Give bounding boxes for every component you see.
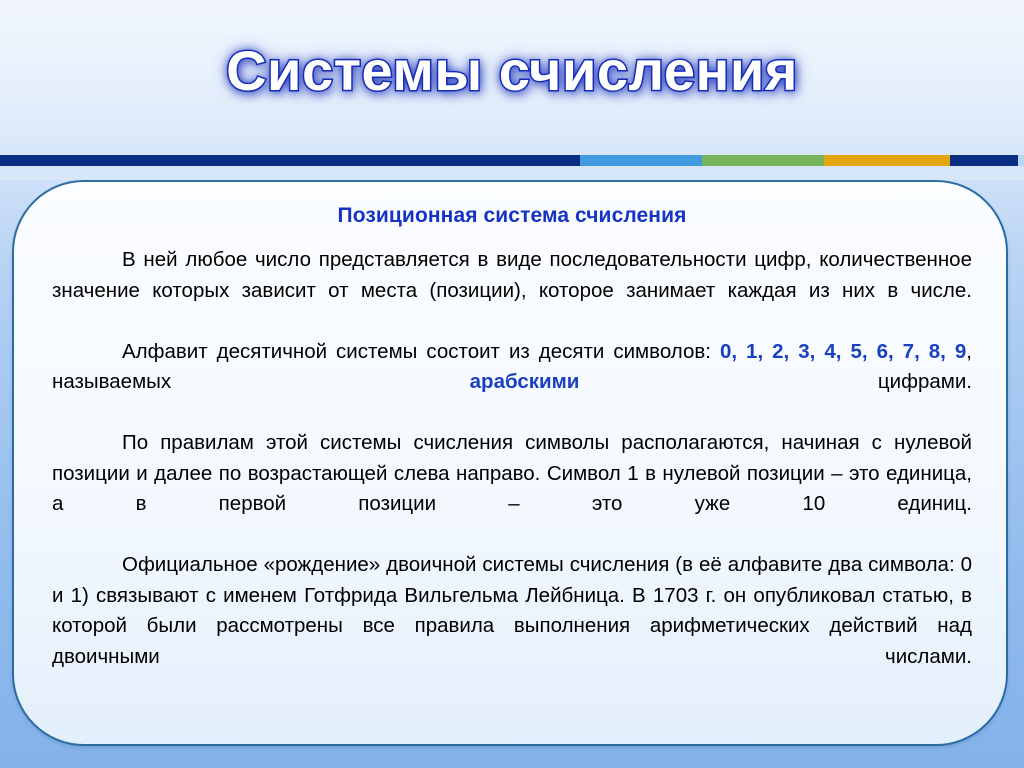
bar-segment-tail: [1018, 155, 1024, 166]
paragraph-3: По правилам этой системы счисления симво…: [52, 428, 972, 550]
section-heading: Позиционная система счисления: [52, 204, 972, 228]
paragraph-4: Официальное «рождение» двоичной системы …: [52, 550, 972, 703]
bar-segment-light-blue: [580, 155, 702, 166]
content-panel: Позиционная система счисления В ней любо…: [12, 180, 1008, 746]
accent-color-bar: [0, 155, 1024, 166]
decimal-digits-highlight: 0, 1, 2, 3, 4, 5, 6, 7, 8, 9: [720, 340, 966, 363]
bar-segment-green: [702, 155, 824, 166]
body-text-block: В ней любое число представляется в виде …: [52, 245, 972, 703]
page-title: Системы счисления: [0, 42, 1024, 101]
presentation-slide: Системы счисления Позиционная система сч…: [0, 0, 1024, 768]
content-panel-inner: Позиционная система счисления В ней любо…: [52, 204, 972, 703]
bar-segment-orange: [824, 155, 950, 166]
bar-segment-navy-right: [950, 155, 1018, 166]
arabic-word-highlight: арабскими: [470, 370, 580, 393]
bar-segment-navy-left: [0, 155, 580, 166]
paragraph-1: В ней любое число представляется в виде …: [52, 245, 972, 337]
title-band: Системы счисления: [0, 0, 1024, 146]
paragraph-2: Алфавит десятичной системы состоит из де…: [52, 337, 972, 429]
paragraph-2-tail: цифрами.: [579, 370, 972, 393]
paragraph-2-lead: Алфавит десятичной системы состоит из де…: [122, 340, 720, 363]
